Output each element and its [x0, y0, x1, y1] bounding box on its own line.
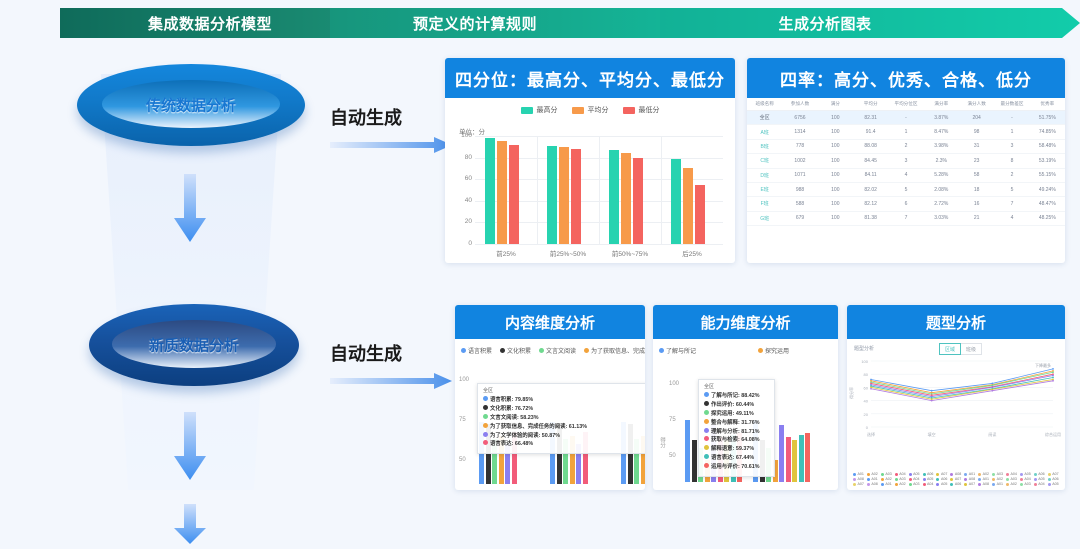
legend-item[interactable]: A04: [1006, 472, 1017, 476]
legend-item[interactable]: A05: [1020, 472, 1031, 476]
card-content-header: 内容维度分析: [455, 305, 645, 339]
legend-dot-icon: [1034, 483, 1037, 486]
tooltip-text: 文化积累: 76.72%: [490, 406, 533, 412]
card-four-rates: 四率：高分、优秀、合格、低分 班级名称参加人数满分平均分平均分位区满分率满分人数…: [747, 58, 1065, 263]
tooltip-dot-icon: [704, 401, 709, 406]
content-tooltip: 全区 语言积累: 79.85%文化积累: 76.72%文言文阅读: 58.23%…: [477, 383, 645, 454]
y-axis-tick: 20: [465, 218, 472, 225]
table-cell: E班: [747, 182, 782, 196]
ability-y-tick: 100: [669, 381, 679, 387]
tooltip-text: 作出评价: 60.44%: [711, 402, 754, 408]
table-row[interactable]: G班67910081.3873.03%21448.25%: [747, 211, 1065, 225]
bar[interactable]: [547, 146, 557, 244]
legend-dot-icon: [895, 483, 898, 486]
card-quartile-title: 四分位：最高分、平均分、最低分: [455, 66, 725, 91]
ring-new-quality-label: 新质数据分析: [89, 335, 299, 356]
bar[interactable]: [485, 138, 495, 244]
legend-label: A03: [913, 482, 919, 486]
bar[interactable]: [779, 425, 784, 482]
legend-label: A05: [927, 477, 933, 481]
table-cell: 82.02: [853, 182, 888, 196]
legend-item[interactable]: A05: [923, 477, 934, 481]
legend-dot-icon: [1034, 478, 1037, 481]
x-axis-tick: 阅读: [988, 431, 996, 437]
y-axis-tick: 40: [864, 399, 869, 404]
legend-dot-icon: [950, 478, 953, 481]
data-point[interactable]: [931, 400, 933, 402]
table-cell: 4: [888, 168, 923, 182]
bar[interactable]: [509, 145, 519, 244]
data-point[interactable]: [1052, 377, 1054, 379]
x-axis-tick: 前25%: [477, 248, 535, 258]
connector-1-label: 自动生成: [330, 104, 455, 130]
tooltip-row: 探究运用: 49.11%: [704, 410, 769, 419]
legend-dot-icon: [1020, 473, 1023, 476]
tooltip-text: 理解与分析: 81.71%: [711, 429, 760, 435]
table-row[interactable]: F班58810082.1262.72%16748.47%: [747, 197, 1065, 211]
flow-step-2[interactable]: 预定义的计算规则: [330, 8, 705, 38]
ability-legend: 了解与所记探究运用: [653, 339, 838, 355]
table-column-header[interactable]: 最分数差区: [994, 98, 1029, 111]
tooltip-dot-icon: [704, 445, 709, 450]
y-axis-tick: 100: [861, 359, 868, 364]
legend-dot-icon: [867, 473, 870, 476]
card-question-type: 题型分析 题型分析 区域 班级 100806040200选择填空阅读综合运用下降…: [847, 305, 1065, 490]
tooltip-row: 文化积累: 76.72%: [483, 405, 643, 414]
legend-dot-icon: [867, 483, 870, 486]
legend-item[interactable]: A03: [992, 472, 1003, 476]
legend-label: A07: [955, 477, 961, 481]
card-qtype-title: 题型分析: [926, 312, 986, 333]
right-arrow-icon: [330, 137, 455, 158]
quartile-plot-area: 020406080100前25%前25%~50%前50%~75%后25%: [475, 136, 723, 244]
bar[interactable]: [792, 440, 797, 482]
legend-dot-icon: [964, 473, 967, 476]
table-row[interactable]: C班100210084.4532.3%23853.19%: [747, 154, 1065, 168]
legend-dot-icon: [923, 473, 926, 476]
legend-label: A02: [997, 477, 1003, 481]
table-cell: B班: [747, 139, 782, 153]
content-y-tick: 100: [459, 377, 469, 383]
table-cell: 100: [818, 111, 853, 125]
legend-dot-icon: [867, 478, 870, 481]
legend-label: A01: [858, 472, 864, 476]
legend-label: 文言文阅读: [546, 346, 576, 355]
card-qtype-header: 题型分析: [847, 305, 1065, 339]
tooltip-text: 运用与评价: 70.61%: [711, 464, 760, 470]
tooltip-row: 整合与解释: 31.76%: [704, 419, 769, 428]
legend-swatch-icon: [521, 107, 533, 114]
tooltip-text: 解释语意: 59.37%: [711, 446, 754, 452]
legend-label: A06: [955, 482, 961, 486]
tooltip-dot-icon: [483, 440, 488, 445]
legend-item[interactable]: 探究运用: [758, 346, 789, 355]
table-column-header[interactable]: 参加人数: [782, 98, 817, 111]
legend-item[interactable]: A01: [881, 482, 892, 486]
bar[interactable]: [571, 149, 581, 244]
legend-item[interactable]: A01: [964, 472, 975, 476]
legend-dot-icon: [853, 478, 856, 481]
legend-dot-icon: [950, 473, 953, 476]
legend-item[interactable]: A05: [936, 482, 947, 486]
x-axis-tick: 后25%: [663, 248, 721, 258]
table-cell: 74.85%: [1030, 125, 1065, 139]
table-cell: -: [888, 111, 923, 125]
table-cell: A班: [747, 125, 782, 139]
legend-item[interactable]: A06: [936, 477, 947, 481]
funnel-diagram: 传统数据分析 新质数据分析: [55, 52, 325, 490]
ring-traditional-analysis: 传统数据分析: [77, 64, 305, 146]
tooltip-text: 探究运用: 49.11%: [711, 411, 754, 417]
table-column-header[interactable]: 满分人数: [959, 98, 994, 111]
legend-label: 探究运用: [765, 346, 789, 355]
legend-item[interactable]: A07: [936, 472, 947, 476]
legend-item[interactable]: A06: [950, 482, 961, 486]
legend-dot-icon: [909, 473, 912, 476]
flow-step-2-label: 预定义的计算规则: [413, 13, 537, 34]
legend-item[interactable]: A03: [881, 472, 892, 476]
down-arrow-icon: [173, 412, 207, 482]
legend-item[interactable]: A04: [1034, 482, 1045, 486]
table-cell: 2.3%: [924, 154, 959, 168]
table-cell: C班: [747, 154, 782, 168]
table-cell: 2.72%: [924, 197, 959, 211]
card-rates-header: 四率：高分、优秀、合格、低分: [747, 58, 1065, 98]
tooltip-dot-icon: [704, 463, 709, 468]
table-cell: 8.47%: [924, 125, 959, 139]
table-row[interactable]: D班107110084.1145.28%58255.15%: [747, 168, 1065, 182]
chart-annotation: 下降最多: [1035, 362, 1051, 368]
legend-label: 最低分: [639, 105, 660, 115]
tooltip-text: 了解与所记: 88.42%: [711, 393, 760, 399]
legend-label: A03: [885, 472, 891, 476]
bar[interactable]: [497, 141, 507, 244]
x-axis-tick: 前25%~50%: [539, 248, 597, 258]
legend-dot-icon: [881, 478, 884, 481]
legend-item[interactable]: 平均分: [572, 105, 609, 115]
legend-item[interactable]: A01: [992, 482, 1003, 486]
ability-y-tick: 50: [669, 453, 676, 459]
tooltip-dot-icon: [704, 436, 709, 441]
legend-item[interactable]: 最高分: [521, 105, 558, 115]
legend-item[interactable]: A07: [964, 482, 975, 486]
bar-group: [671, 159, 705, 244]
legend-dot-icon: [978, 473, 981, 476]
legend-item[interactable]: A06: [923, 472, 934, 476]
table-cell: 679: [782, 211, 817, 225]
legend-item[interactable]: A03: [909, 482, 920, 486]
legend-label: 最高分: [537, 105, 558, 115]
table-cell: 3: [888, 154, 923, 168]
tooltip-dot-icon: [483, 414, 488, 419]
table-cell: 7: [888, 211, 923, 225]
table-column-header[interactable]: 班级名称: [747, 98, 782, 111]
tooltip-dot-icon: [483, 396, 488, 401]
x-axis-tick: 选择: [867, 431, 875, 437]
legend-item[interactable]: A03: [895, 477, 906, 481]
axis-separator: [661, 136, 662, 244]
legend-item[interactable]: A04: [909, 477, 920, 481]
card-ability-body: 了解与所记探究运用 100 75 50 得分 全区 了解与所记: 88.42%作…: [653, 339, 838, 490]
tooltip-text: 为了获取信息、完成任务的阅读: 61.13%: [490, 424, 587, 430]
tooltip-dot-icon: [704, 419, 709, 424]
data-point[interactable]: [1052, 380, 1054, 382]
bar[interactable]: [683, 168, 693, 244]
table-cell: 2: [888, 139, 923, 153]
table-cell: 100: [818, 125, 853, 139]
tooltip-row: 语言表达: 67.44%: [704, 454, 769, 463]
table-cell: 81.38: [853, 211, 888, 225]
bar[interactable]: [621, 153, 631, 244]
table-column-header[interactable]: 优秀率: [1030, 98, 1065, 111]
table-cell: 5: [994, 182, 1029, 196]
y-axis-tick: 0: [866, 425, 869, 430]
data-point[interactable]: [991, 390, 993, 392]
legend-item[interactable]: A02: [1006, 482, 1017, 486]
legend-label: A02: [1010, 482, 1016, 486]
legend-label: A06: [1038, 472, 1044, 476]
legend-label: A04: [1038, 482, 1044, 486]
legend-item[interactable]: A08: [867, 482, 878, 486]
table-row[interactable]: A班131410091.418.47%98174.85%: [747, 125, 1065, 139]
quartile-legend: 最高分 平均分 最低分: [445, 98, 735, 117]
table-cell: 7: [994, 197, 1029, 211]
legend-dot-icon: [584, 348, 589, 353]
ability-tooltip: 全区 了解与所记: 88.42%作出评价: 60.44%探究运用: 49.11%…: [698, 379, 775, 477]
legend-dot-icon: [461, 348, 466, 353]
table-cell: 100: [818, 182, 853, 196]
legend-dot-icon: [895, 478, 898, 481]
data-point[interactable]: [931, 390, 933, 392]
tooltip-row: 解释语意: 59.37%: [704, 445, 769, 454]
legend-label: A04: [927, 482, 933, 486]
table-cell: 3: [994, 139, 1029, 153]
legend-item[interactable]: 语言积累: [461, 346, 492, 355]
legend-item[interactable]: 为了获取信息、完成任务的阅读: [584, 346, 645, 355]
bar[interactable]: [695, 185, 705, 244]
table-column-header[interactable]: 平均分位区: [888, 98, 923, 111]
qtype-legend: A01A02A03A04A05A06A07A08A01A02A03A04A05A…: [853, 472, 1061, 486]
content-y-tick: 75: [459, 417, 466, 423]
legend-item[interactable]: A07: [1048, 472, 1059, 476]
table-cell: 58: [959, 168, 994, 182]
y-axis-tick: 60: [465, 175, 472, 182]
axis-separator: [599, 136, 600, 244]
bar[interactable]: [799, 435, 804, 482]
bar[interactable]: [685, 420, 690, 482]
table-cell: 988: [782, 182, 817, 196]
legend-item[interactable]: 文化积累: [500, 346, 531, 355]
bar[interactable]: [692, 440, 697, 482]
legend-label: A06: [1052, 477, 1058, 481]
bar[interactable]: [609, 150, 619, 244]
tooltip-row: 作出评价: 60.44%: [704, 401, 769, 410]
data-point[interactable]: [1052, 368, 1054, 370]
x-axis-tick: 综合运用: [1045, 431, 1061, 437]
table-cell: 1: [994, 125, 1029, 139]
table-cell: 5: [888, 182, 923, 196]
table-cell: 1: [888, 125, 923, 139]
tooltip-row: 为了文学体验的阅读: 50.87%: [483, 432, 643, 441]
tooltip-text: 为了文学体验的阅读: 50.87%: [490, 433, 560, 439]
legend-item[interactable]: A08: [853, 477, 864, 481]
legend-item[interactable]: A06: [1034, 472, 1045, 476]
legend-dot-icon: [936, 478, 939, 481]
table-cell: 204: [959, 111, 994, 125]
legend-dot-icon: [992, 473, 995, 476]
legend-item[interactable]: 了解与所记: [659, 346, 696, 355]
card-content-title: 内容维度分析: [505, 312, 595, 333]
tooltip-dot-icon: [483, 432, 488, 437]
legend-dot-icon: [1006, 483, 1009, 486]
legend-dot-icon: [895, 473, 898, 476]
legend-label: A01: [983, 477, 989, 481]
legend-label: A08: [983, 482, 989, 486]
legend-dot-icon: [992, 478, 995, 481]
table-cell: 3.03%: [924, 211, 959, 225]
table-column-header[interactable]: 满分: [818, 98, 853, 111]
legend-label: A08: [969, 477, 975, 481]
legend-item[interactable]: A08: [950, 472, 961, 476]
table-row[interactable]: 全区675610082.31-3.87%204-51.75%: [747, 111, 1065, 125]
y-axis-tick: 40: [465, 197, 472, 204]
table-row[interactable]: E班98810082.0252.08%18549.24%: [747, 182, 1065, 196]
legend-dot-icon: [1048, 483, 1051, 486]
legend-item[interactable]: A04: [895, 472, 906, 476]
data-point[interactable]: [1052, 375, 1054, 377]
content-y-tick: 50: [459, 457, 466, 463]
legend-item[interactable]: A08: [978, 482, 989, 486]
right-arrow-icon: [330, 373, 455, 394]
table-cell: 6: [888, 197, 923, 211]
legend-item[interactable]: A05: [1034, 477, 1045, 481]
process-flow-bar: 集成数据分析模型 预定义的计算规则 生成分析图表: [0, 0, 1080, 46]
legend-label: A08: [955, 472, 961, 476]
legend-dot-icon: [1020, 478, 1023, 481]
table-cell: 48.47%: [1030, 197, 1065, 211]
ring-new-quality-analysis: 新质数据分析: [89, 304, 299, 386]
tooltip-text: 语言积累: 79.85%: [490, 397, 533, 403]
legend-label: A05: [913, 472, 919, 476]
card-ability-header: 能力维度分析: [653, 305, 838, 339]
table-cell: 31: [959, 139, 994, 153]
legend-item[interactable]: A02: [881, 477, 892, 481]
legend-label: A03: [1010, 477, 1016, 481]
legend-item[interactable]: A01: [853, 472, 864, 476]
table-cell: 6756: [782, 111, 817, 125]
legend-item[interactable]: A08: [964, 477, 975, 481]
legend-label: 了解与所记: [666, 346, 696, 355]
legend-dot-icon: [1048, 478, 1051, 481]
legend-item[interactable]: A02: [895, 482, 906, 486]
legend-item[interactable]: A05: [1048, 482, 1059, 486]
table-cell: 3.87%: [924, 111, 959, 125]
data-point[interactable]: [870, 388, 872, 390]
legend-item[interactable]: 文言文阅读: [539, 346, 576, 355]
legend-dot-icon: [936, 473, 939, 476]
legend-item[interactable]: A03: [1006, 477, 1017, 481]
legend-item[interactable]: A02: [992, 477, 1003, 481]
legend-item[interactable]: A02: [978, 472, 989, 476]
card-content-dimension: 内容维度分析 语言积累文化积累文言文阅读为了获取信息、完成任务的阅读 100 7…: [455, 305, 645, 490]
card-quartile-body: 最高分 平均分 最低分 单位：分 020406080100前25%前25%~50…: [445, 98, 735, 117]
table-cell: 51.75%: [1030, 111, 1065, 125]
table-cell: 588: [782, 197, 817, 211]
legend-item[interactable]: A01: [867, 477, 878, 481]
tooltip-text: 文言文阅读: 58.23%: [490, 415, 539, 421]
legend-item[interactable]: A07: [853, 482, 864, 486]
table-cell: 82.12: [853, 197, 888, 211]
bar[interactable]: [633, 158, 643, 244]
axis-separator: [537, 136, 538, 244]
table-column-header[interactable]: 满分率: [924, 98, 959, 111]
legend-label: A05: [1024, 472, 1030, 476]
legend-label: A07: [969, 482, 975, 486]
legend-dot-icon: [950, 483, 953, 486]
tooltip-dot-icon: [704, 392, 709, 397]
table-cell: 5.28%: [924, 168, 959, 182]
legend-item[interactable]: A04: [923, 482, 934, 486]
table-cell: 16: [959, 197, 994, 211]
table-cell: 23: [959, 154, 994, 168]
tooltip-text: 整合与解释: 31.76%: [711, 420, 760, 426]
legend-dot-icon: [978, 478, 981, 481]
legend-label: 为了获取信息、完成任务的阅读: [591, 346, 645, 355]
qtype-line-plot: 100806040200选择填空阅读综合运用下降最多得分率: [847, 353, 1065, 453]
y-axis-label: 得分率: [848, 387, 854, 399]
legend-item[interactable]: A03: [1020, 482, 1031, 486]
table-column-header[interactable]: 平均分: [853, 98, 888, 111]
bar[interactable]: [559, 147, 569, 244]
table-cell: F班: [747, 197, 782, 211]
table-cell: 8: [994, 154, 1029, 168]
legend-item[interactable]: A05: [909, 472, 920, 476]
legend-label: A07: [858, 482, 864, 486]
tooltip-text: 获取与检索: 64.08%: [711, 437, 760, 443]
legend-dot-icon: [978, 483, 981, 486]
table-cell: 49.24%: [1030, 182, 1065, 196]
legend-item[interactable]: A02: [867, 472, 878, 476]
bar[interactable]: [671, 159, 681, 244]
flow-step-3[interactable]: 生成分析图表: [660, 8, 1080, 38]
legend-item[interactable]: A06: [1048, 477, 1059, 481]
legend-dot-icon: [881, 473, 884, 476]
card-quartile-header: 四分位：最高分、平均分、最低分: [445, 58, 735, 98]
bar[interactable]: [786, 437, 791, 482]
legend-dot-icon: [909, 483, 912, 486]
legend-dot-icon: [964, 483, 967, 486]
legend-item[interactable]: A01: [978, 477, 989, 481]
table-row[interactable]: B班77810088.0823.98%31358.48%: [747, 139, 1065, 153]
table-cell: 100: [818, 139, 853, 153]
qtype-subtitle: 题型分析: [854, 345, 874, 352]
y-axis-tick: 80: [864, 372, 869, 377]
card-ability-dimension: 能力维度分析 了解与所记探究运用 100 75 50 得分 全区 了解与所记: …: [653, 305, 838, 490]
tooltip-dot-icon: [704, 410, 709, 415]
down-arrow-icon: [173, 504, 207, 544]
data-point[interactable]: [1052, 371, 1054, 373]
tooltip-dot-icon: [704, 428, 709, 433]
tooltip-dot-icon: [483, 405, 488, 410]
legend-item[interactable]: A04: [1020, 477, 1031, 481]
table-cell: 84.45: [853, 154, 888, 168]
legend-item[interactable]: A07: [950, 477, 961, 481]
table-cell: 82.31: [853, 111, 888, 125]
legend-item[interactable]: 最低分: [623, 105, 660, 115]
bar[interactable]: [805, 433, 810, 482]
y-axis-tick: 100: [461, 132, 472, 139]
table-cell: 1314: [782, 125, 817, 139]
